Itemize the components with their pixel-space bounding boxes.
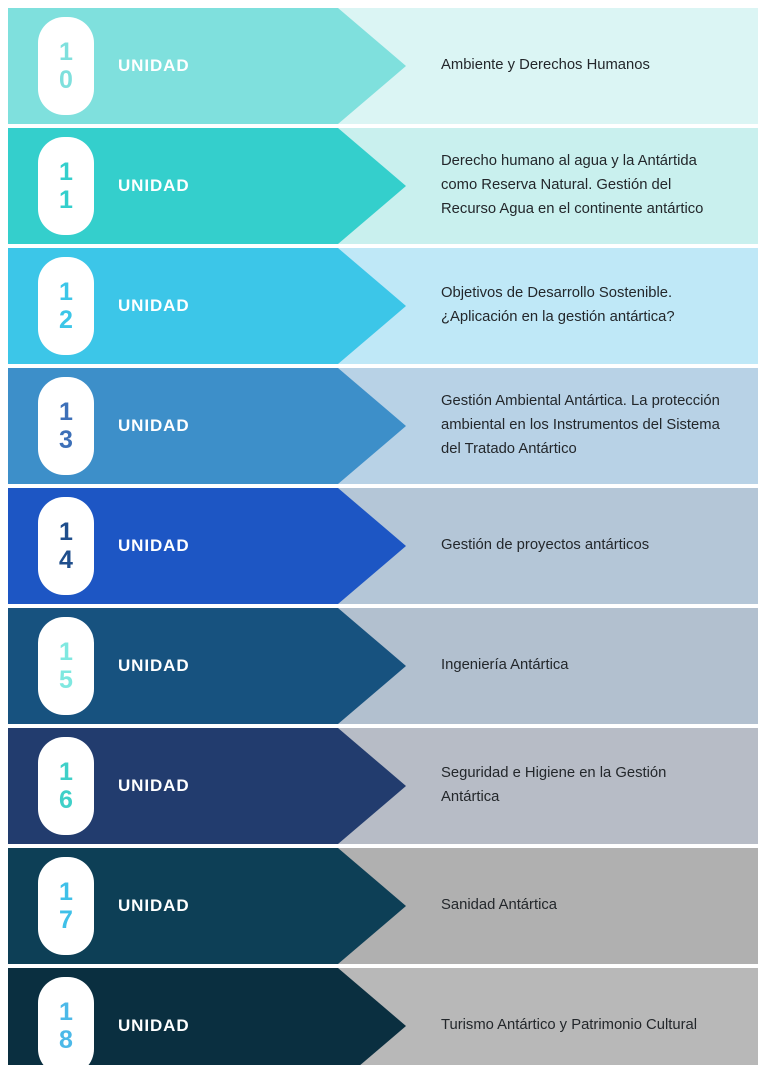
- unit-number-digit-top: 1: [59, 879, 73, 906]
- unit-description: Derecho humano al agua y la Antártida co…: [441, 128, 728, 244]
- unit-label: UNIDAD: [118, 608, 190, 724]
- unit-number-badge: 14: [38, 497, 94, 595]
- unit-row[interactable]: 13UNIDADGestión Ambiental Antártica. La …: [8, 368, 758, 484]
- unit-label: UNIDAD: [118, 488, 190, 604]
- unit-description: Turismo Antártico y Patrimonio Cultural: [441, 968, 728, 1065]
- unit-number-badge: 15: [38, 617, 94, 715]
- unit-list-infographic: 10UNIDADAmbiente y Derechos Humanos11UNI…: [0, 0, 768, 1065]
- unit-number-digit-bottom: 0: [59, 67, 73, 94]
- unit-number-badge: 11: [38, 137, 94, 235]
- unit-label: UNIDAD: [118, 8, 190, 124]
- unit-description: Sanidad Antártica: [441, 848, 728, 964]
- unit-row[interactable]: 17UNIDADSanidad Antártica: [8, 848, 758, 964]
- unit-number-digit-top: 1: [59, 759, 73, 786]
- unit-label: UNIDAD: [118, 968, 190, 1065]
- unit-row[interactable]: 16UNIDADSeguridad e Higiene en la Gestió…: [8, 728, 758, 844]
- unit-description: Ambiente y Derechos Humanos: [441, 8, 728, 124]
- unit-row[interactable]: 10UNIDADAmbiente y Derechos Humanos: [8, 8, 758, 124]
- unit-description-text: Sanidad Antártica: [441, 894, 557, 918]
- unit-row[interactable]: 14UNIDADGestión de proyectos antárticos: [8, 488, 758, 604]
- unit-row[interactable]: 12UNIDADObjetivos de Desarrollo Sostenib…: [8, 248, 758, 364]
- unit-description-text: Gestión Ambiental Antártica. La protecci…: [441, 390, 728, 462]
- unit-number-digit-top: 1: [59, 159, 73, 186]
- unit-number-digit-bottom: 6: [59, 787, 73, 814]
- unit-number-badge: 18: [38, 977, 94, 1065]
- unit-description-text: Ambiente y Derechos Humanos: [441, 54, 650, 78]
- unit-row[interactable]: 18UNIDADTurismo Antártico y Patrimonio C…: [8, 968, 758, 1065]
- unit-label: UNIDAD: [118, 248, 190, 364]
- unit-number-digit-bottom: 8: [59, 1027, 73, 1054]
- unit-number-digit-top: 1: [59, 399, 73, 426]
- unit-row[interactable]: 15UNIDADIngeniería Antártica: [8, 608, 758, 724]
- unit-description-text: Objetivos de Desarrollo Sostenible. ¿Apl…: [441, 282, 728, 330]
- unit-number-digit-bottom: 3: [59, 427, 73, 454]
- unit-number-badge: 12: [38, 257, 94, 355]
- unit-description: Gestión Ambiental Antártica. La protecci…: [441, 368, 728, 484]
- unit-label: UNIDAD: [118, 128, 190, 244]
- unit-description-text: Seguridad e Higiene en la Gestión Antárt…: [441, 762, 728, 810]
- unit-description: Ingeniería Antártica: [441, 608, 728, 724]
- unit-number-digit-top: 1: [59, 639, 73, 666]
- unit-description: Gestión de proyectos antárticos: [441, 488, 728, 604]
- unit-number-digit-bottom: 2: [59, 307, 73, 334]
- unit-description-text: Gestión de proyectos antárticos: [441, 534, 649, 558]
- unit-number-digit-top: 1: [59, 999, 73, 1026]
- unit-description-text: Derecho humano al agua y la Antártida co…: [441, 150, 728, 222]
- unit-number-digit-bottom: 5: [59, 667, 73, 694]
- unit-number-digit-top: 1: [59, 39, 73, 66]
- unit-row[interactable]: 11UNIDADDerecho humano al agua y la Antá…: [8, 128, 758, 244]
- unit-description-text: Ingeniería Antártica: [441, 654, 569, 678]
- unit-label: UNIDAD: [118, 728, 190, 844]
- unit-description: Seguridad e Higiene en la Gestión Antárt…: [441, 728, 728, 844]
- unit-number-digit-bottom: 7: [59, 907, 73, 934]
- unit-description: Objetivos de Desarrollo Sostenible. ¿Apl…: [441, 248, 728, 364]
- unit-number-badge: 17: [38, 857, 94, 955]
- unit-label: UNIDAD: [118, 368, 190, 484]
- unit-number-badge: 16: [38, 737, 94, 835]
- unit-number-digit-bottom: 4: [59, 547, 73, 574]
- unit-number-badge: 13: [38, 377, 94, 475]
- unit-number-digit-top: 1: [59, 519, 73, 546]
- unit-label: UNIDAD: [118, 848, 190, 964]
- unit-description-text: Turismo Antártico y Patrimonio Cultural: [441, 1014, 697, 1038]
- unit-number-digit-top: 1: [59, 279, 73, 306]
- unit-number-digit-bottom: 1: [59, 187, 73, 214]
- unit-number-badge: 10: [38, 17, 94, 115]
